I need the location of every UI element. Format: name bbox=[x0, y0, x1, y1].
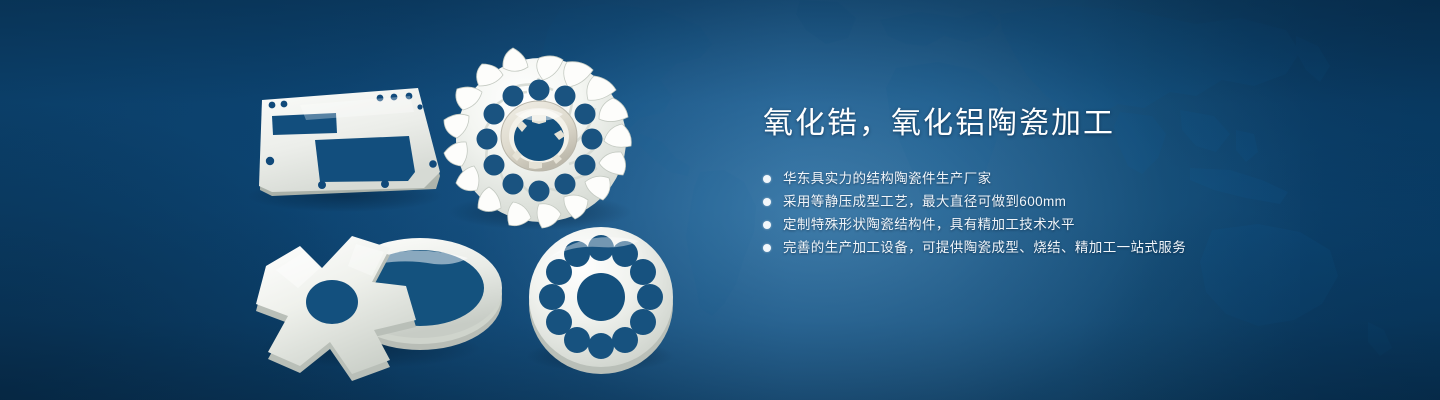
bullet-text: 完善的生产加工设备，可提供陶瓷成型、烧结、精加工一站式服务 bbox=[783, 237, 1186, 259]
product-photo-cluster bbox=[0, 0, 740, 400]
bullet-text: 华东具实力的结构陶瓷件生产厂家 bbox=[783, 168, 992, 190]
list-item: 华东具实力的结构陶瓷件生产厂家 bbox=[763, 168, 1383, 190]
copy-block: 氧化锆，氧化铝陶瓷加工 华东具实力的结构陶瓷件生产厂家 采用等静压成型工艺，最大… bbox=[763, 104, 1383, 260]
page-title: 氧化锆，氧化铝陶瓷加工 bbox=[763, 104, 1383, 144]
feature-bullet-list: 华东具实力的结构陶瓷件生产厂家 采用等静压成型工艺，最大直径可做到600mm 定… bbox=[763, 168, 1383, 259]
bullet-dot-icon bbox=[763, 198, 771, 206]
bullet-text: 定制特殊形状陶瓷结构件，具有精加工技术水平 bbox=[783, 214, 1075, 236]
list-item: 采用等静压成型工艺，最大直径可做到600mm bbox=[763, 191, 1383, 213]
list-item: 完善的生产加工设备，可提供陶瓷成型、烧结、精加工一站式服务 bbox=[763, 237, 1383, 259]
bullet-text: 采用等静压成型工艺，最大直径可做到600mm bbox=[783, 191, 1066, 213]
ceramic-mounting-plate bbox=[259, 88, 440, 196]
hero-banner: 氧化锆，氧化铝陶瓷加工 华东具实力的结构陶瓷件生产厂家 采用等静压成型工艺，最大… bbox=[0, 0, 1440, 400]
bullet-dot-icon bbox=[763, 244, 771, 252]
ceramic-perforated-disc bbox=[529, 227, 673, 374]
bullet-dot-icon bbox=[763, 221, 771, 229]
bullet-dot-icon bbox=[763, 175, 771, 183]
list-item: 定制特殊形状陶瓷结构件，具有精加工技术水平 bbox=[763, 214, 1383, 236]
